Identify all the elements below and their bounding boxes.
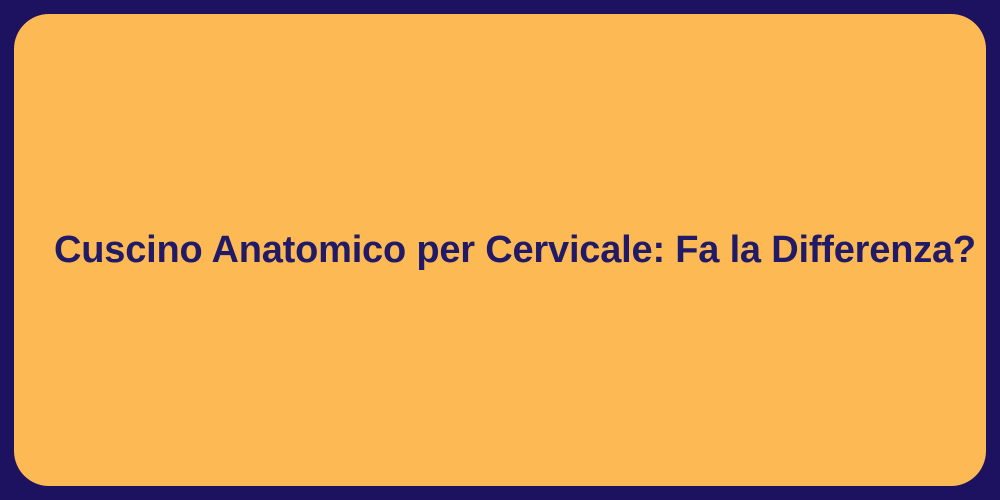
headline-card: Cuscino Anatomico per Cervicale: Fa la D… xyxy=(14,14,986,486)
headline-container: Cuscino Anatomico per Cervicale: Fa la D… xyxy=(14,228,986,273)
page-title: Cuscino Anatomico per Cervicale: Fa la D… xyxy=(54,228,946,273)
banner-root: Cuscino Anatomico per Cervicale: Fa la D… xyxy=(0,0,1000,500)
